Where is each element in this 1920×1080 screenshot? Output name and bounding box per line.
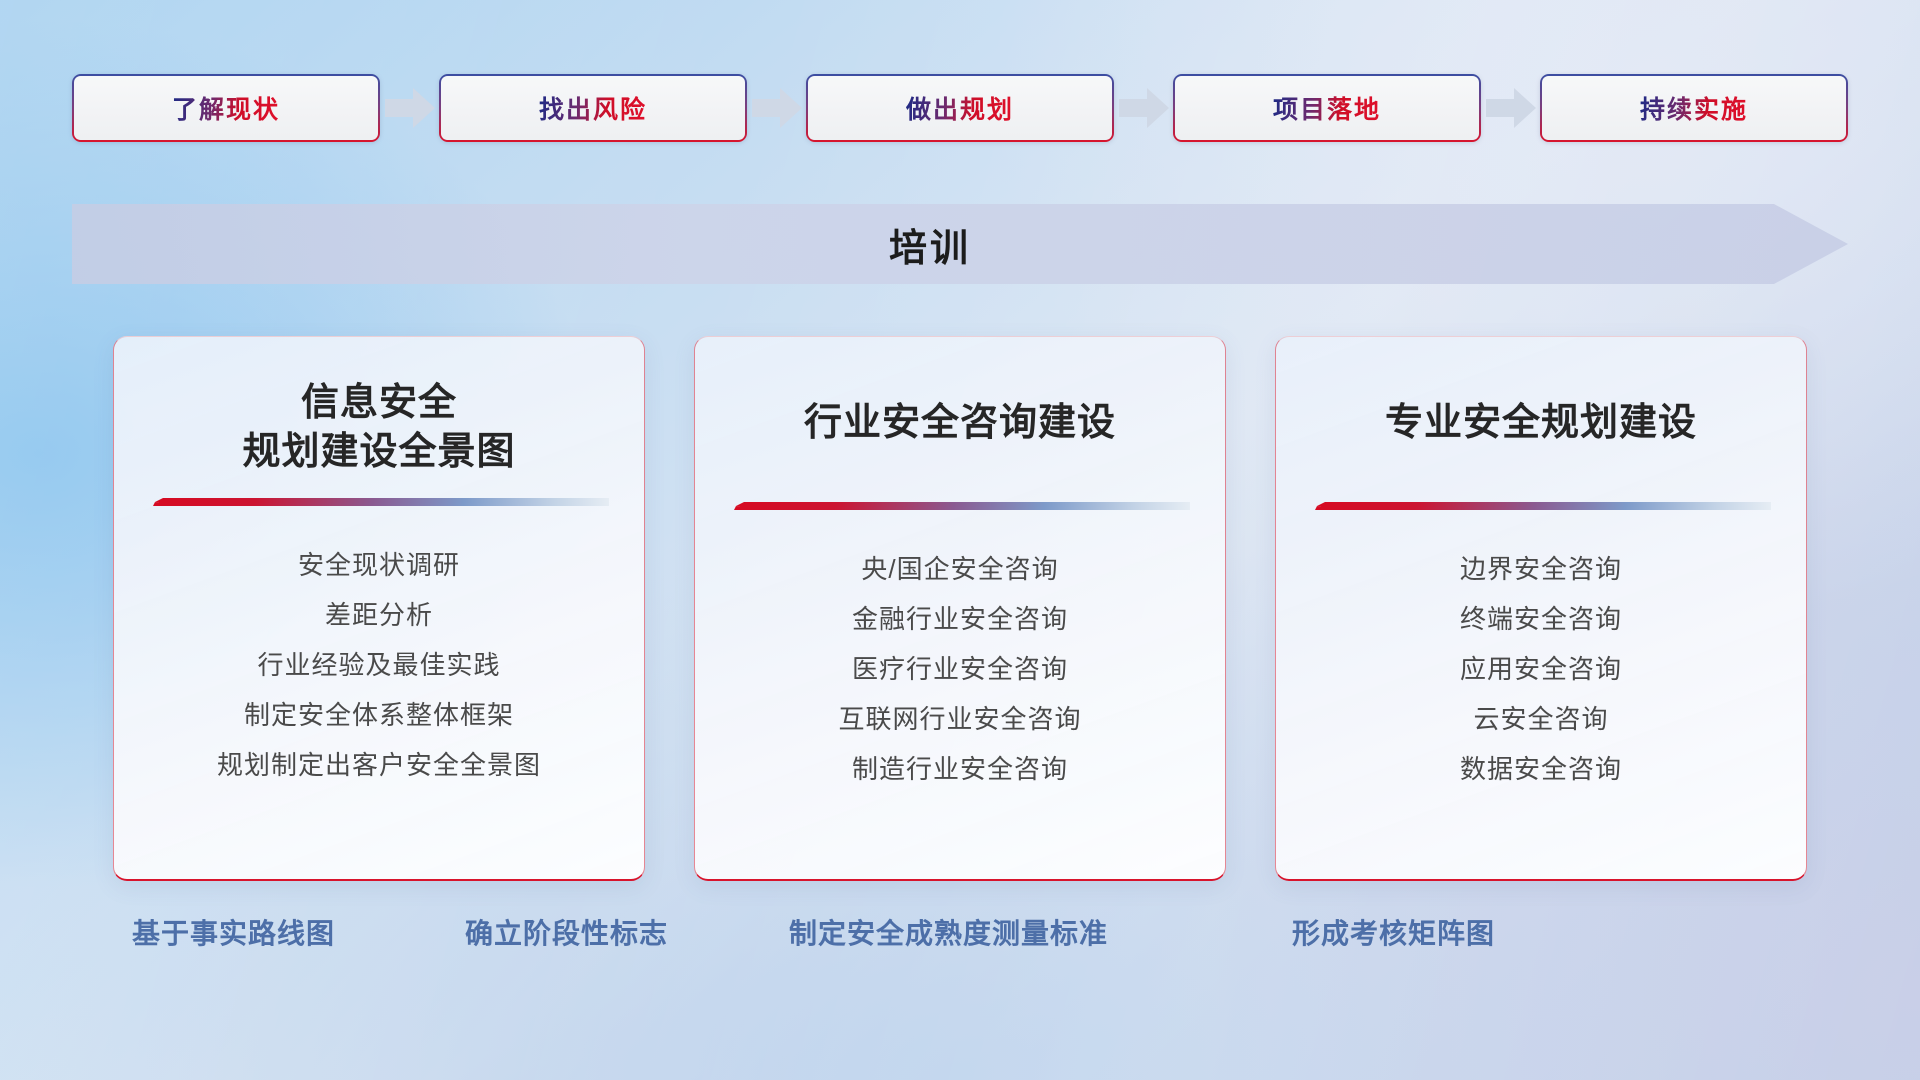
list-item: 差距分析 bbox=[325, 590, 433, 640]
list-item: 互联网行业安全咨询 bbox=[838, 694, 1081, 744]
process-steps: 了解现状 找出风险 做出规划 项目落地 bbox=[72, 72, 1848, 144]
list-item: 制造行业安全咨询 bbox=[852, 744, 1068, 794]
list-item: 医疗行业安全咨询 bbox=[852, 644, 1068, 694]
slide-root: 了解现状 找出风险 做出规划 项目落地 bbox=[0, 0, 1920, 1080]
step-label-4: 项目落地 bbox=[1273, 90, 1381, 126]
training-banner: 培训 bbox=[72, 204, 1848, 284]
card-3-list: 边界安全咨询 终端安全咨询 应用安全咨询 云安全咨询 数据安全咨询 bbox=[1276, 544, 1806, 794]
card-3-divider bbox=[1311, 502, 1771, 516]
list-item: 制定安全体系整体框架 bbox=[244, 690, 514, 740]
step-box-1[interactable]: 了解现状 bbox=[72, 74, 380, 142]
list-item: 边界安全咨询 bbox=[1460, 544, 1622, 594]
step-label-1: 了解现状 bbox=[172, 90, 280, 126]
step-label-5: 持续实施 bbox=[1640, 90, 1748, 126]
step-box-4[interactable]: 项目落地 bbox=[1173, 74, 1481, 142]
card-1-list: 安全现状调研 差距分析 行业经验及最佳实践 制定安全体系整体框架 规划制定出客户… bbox=[114, 540, 644, 790]
card-1-divider bbox=[149, 498, 609, 512]
step-box-2[interactable]: 找出风险 bbox=[439, 74, 747, 142]
step-label-2: 找出风险 bbox=[539, 90, 647, 126]
list-item: 规划制定出客户安全全景图 bbox=[217, 740, 541, 790]
list-item: 行业经验及最佳实践 bbox=[257, 640, 500, 690]
card-3[interactable]: 专业安全规划建设 bbox=[1275, 336, 1807, 881]
list-item: 金融行业安全咨询 bbox=[852, 594, 1068, 644]
list-item: 应用安全咨询 bbox=[1460, 644, 1622, 694]
list-item: 安全现状调研 bbox=[298, 540, 460, 590]
card-3-title: 专业安全规划建设 bbox=[1361, 399, 1721, 448]
step-arrow-1 bbox=[380, 87, 439, 129]
footnote-3: 制定安全成熟度测量标准 bbox=[789, 912, 1108, 952]
banner-title: 培训 bbox=[72, 204, 1848, 284]
list-item: 数据安全咨询 bbox=[1460, 744, 1622, 794]
card-2-title: 行业安全咨询建设 bbox=[780, 399, 1140, 448]
list-item: 终端安全咨询 bbox=[1460, 594, 1622, 644]
card-2-list: 央/国企安全咨询 金融行业安全咨询 医疗行业安全咨询 互联网行业安全咨询 制造行… bbox=[695, 544, 1225, 794]
step-arrow-3 bbox=[1114, 87, 1173, 129]
card-2[interactable]: 行业安全咨询建设 bbox=[694, 336, 1226, 881]
step-label-3: 做出规划 bbox=[906, 90, 1014, 126]
step-box-3[interactable]: 做出规划 bbox=[806, 74, 1114, 142]
capability-cards: 信息安全 规划建设全景图 bbox=[113, 336, 1807, 881]
card-2-divider bbox=[730, 502, 1190, 516]
footnote-1: 基于事实路线图 bbox=[132, 912, 335, 952]
footnote-row: 基于事实路线图 确立阶段性标志 制定安全成熟度测量标准 形成考核矩阵图 bbox=[0, 912, 1920, 968]
card-1[interactable]: 信息安全 规划建设全景图 bbox=[113, 336, 645, 881]
step-arrow-2 bbox=[747, 87, 806, 129]
card-1-title: 信息安全 规划建设全景图 bbox=[218, 379, 539, 476]
list-item: 云安全咨询 bbox=[1473, 694, 1608, 744]
footnote-4: 形成考核矩阵图 bbox=[1292, 912, 1495, 952]
list-item: 央/国企安全咨询 bbox=[861, 544, 1058, 594]
footnote-2: 确立阶段性标志 bbox=[465, 912, 668, 952]
step-arrow-4 bbox=[1481, 87, 1540, 129]
step-box-5[interactable]: 持续实施 bbox=[1540, 74, 1848, 142]
